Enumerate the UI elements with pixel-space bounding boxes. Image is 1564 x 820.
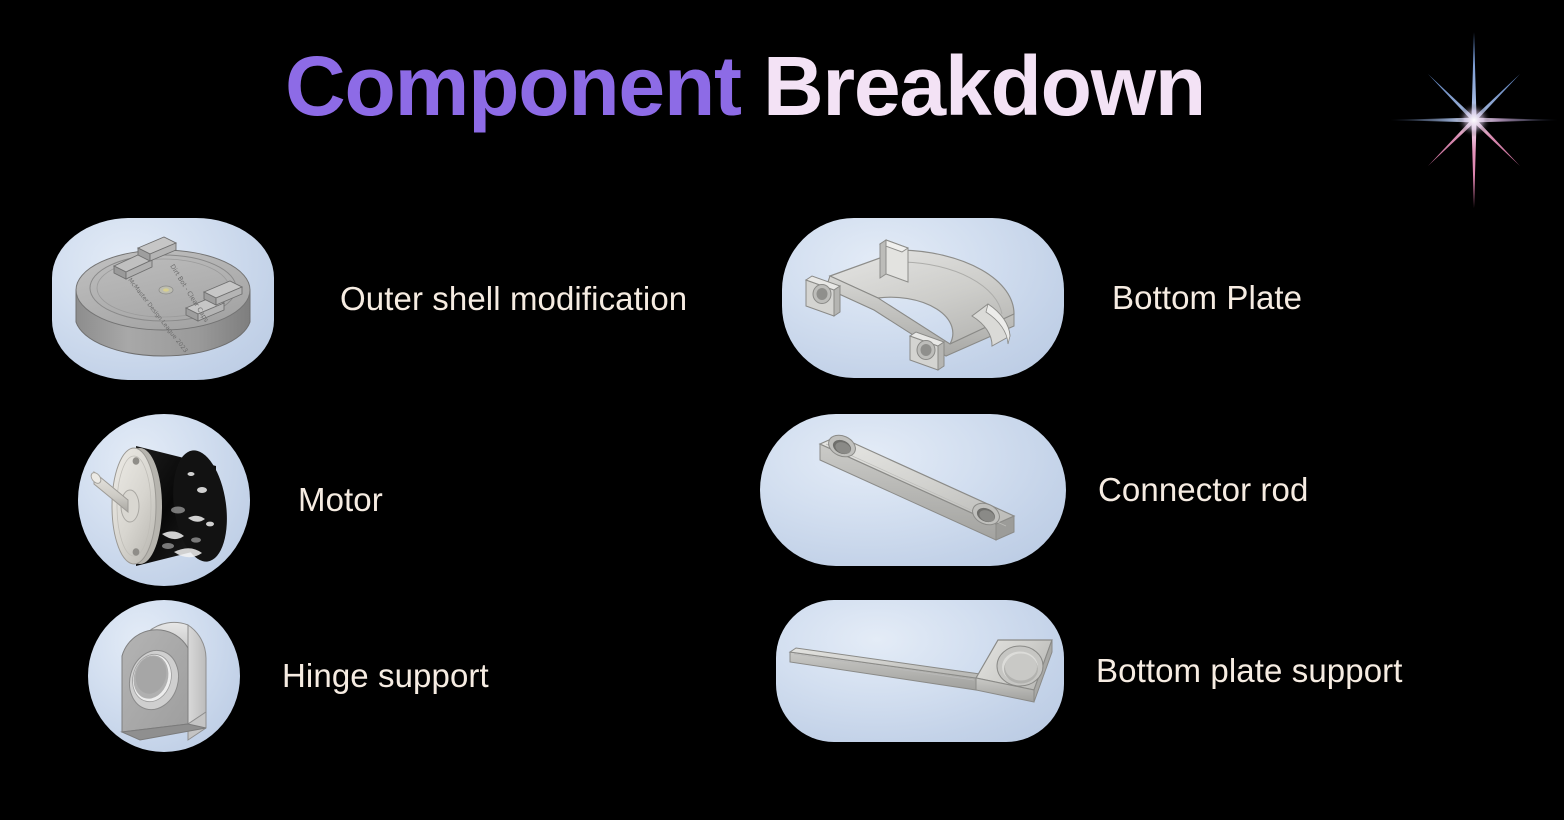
page-title: Component Breakdown — [0, 44, 1490, 128]
component-label-bottom-plate: Bottom Plate — [1112, 279, 1302, 317]
bottom-plate-3d-model — [782, 218, 1064, 378]
cylindrical-outer-shell-3d-model: Dirt Bot - Clear Caps McMaster Design Le… — [52, 218, 274, 380]
component-item-hinge-support[interactable]: Hinge support — [40, 600, 489, 752]
page-title-secondary: Breakdown — [741, 39, 1205, 133]
component-grid: Dirt Bot - Clear Caps McMaster Design Le… — [0, 218, 1564, 798]
bottom-plate-support-arm-3d-model — [776, 600, 1064, 742]
hinge-support-bracket-3d-model — [88, 600, 240, 752]
component-item-bottom-plate-support[interactable]: Bottom plate support — [760, 600, 1403, 742]
component-label-motor: Motor — [298, 481, 383, 519]
component-label-outer-shell: Outer shell modification — [340, 280, 687, 318]
dc-motor-3d-model — [78, 414, 250, 586]
component-item-bottom-plate[interactable]: Bottom Plate — [760, 218, 1302, 378]
component-label-connector-rod: Connector rod — [1098, 471, 1308, 509]
component-item-motor[interactable]: Motor — [40, 414, 383, 586]
page-title-primary: Component — [285, 39, 741, 133]
component-item-outer-shell[interactable]: Dirt Bot - Clear Caps McMaster Design Le… — [40, 218, 687, 380]
connector-rod-3d-model — [760, 414, 1066, 566]
component-item-connector-rod[interactable]: Connector rod — [760, 414, 1308, 566]
component-label-bottom-plate-support: Bottom plate support — [1096, 652, 1403, 690]
component-label-hinge-support: Hinge support — [282, 657, 489, 695]
